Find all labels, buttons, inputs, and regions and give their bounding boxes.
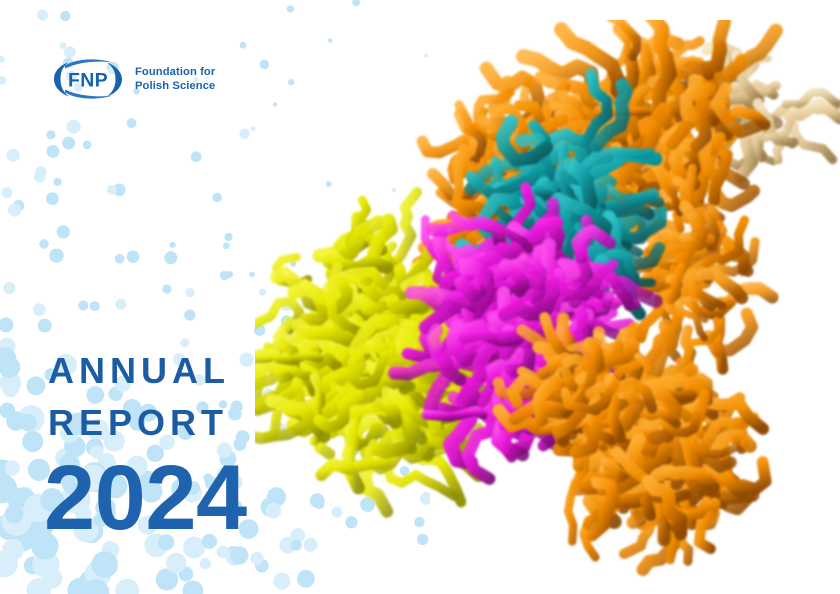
logo-sweep-top — [65, 59, 112, 68]
title-line-report: REPORT — [48, 397, 230, 449]
logo-mark-text: FNP — [68, 70, 108, 92]
logo-word-line-1: Foundation for — [135, 65, 215, 79]
logo-word-line-2: Polish Science — [135, 79, 215, 93]
fnp-logo-mark: FNP — [52, 57, 124, 101]
cover-title: ANNUAL REPORT — [48, 345, 230, 449]
fnp-logo-wordmark: Foundation for Polish Science — [135, 65, 215, 94]
cryo-em-molecular-structure — [255, 20, 840, 580]
fnp-logo: FNP Foundation for Polish Science — [52, 57, 215, 101]
cover-year: 2024 — [44, 452, 247, 544]
title-line-annual: ANNUAL — [48, 345, 230, 397]
report-cover: FNP Foundation for Polish Science ANNUAL… — [0, 0, 840, 594]
logo-arc-right — [107, 63, 122, 97]
